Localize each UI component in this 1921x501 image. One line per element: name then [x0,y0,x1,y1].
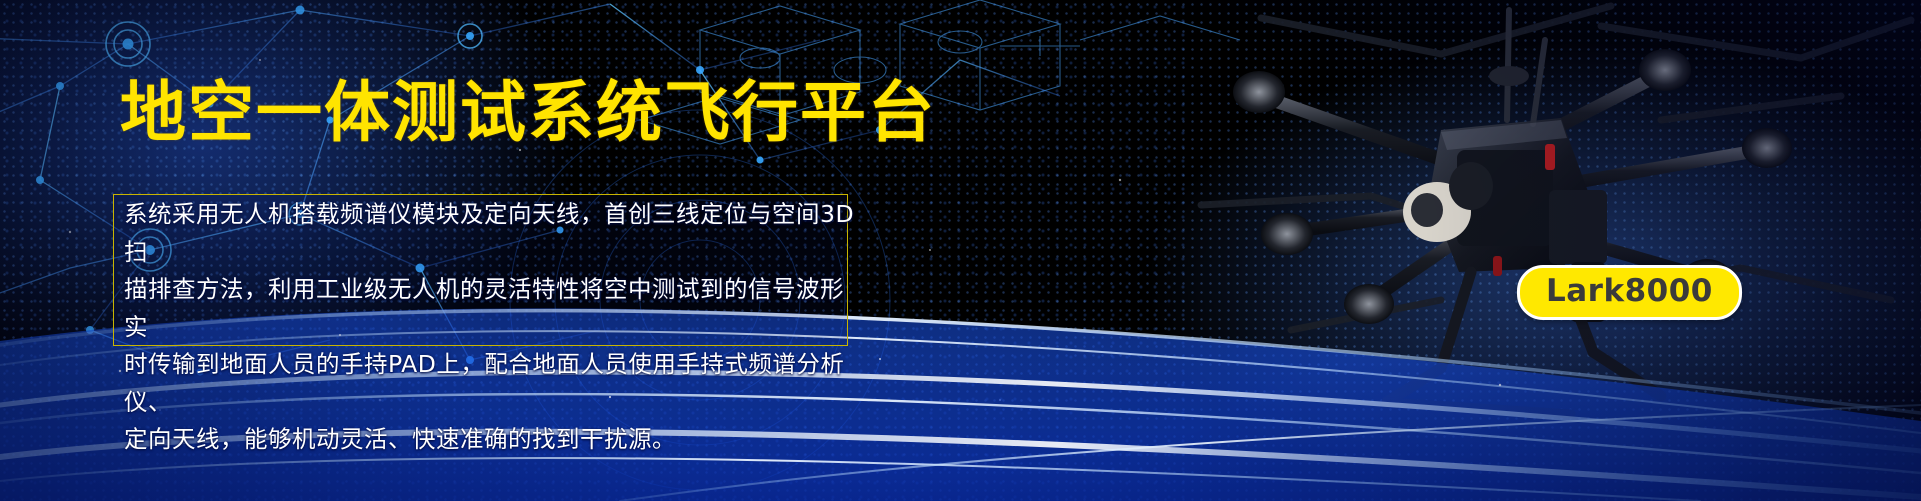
description-line-4: 定向天线，能够机动灵活、快速准确的找到干扰源。 [118,421,858,459]
description-text: 系统采用无人机搭载频谱仪模块及定向天线，首创三线定位与空间3D扫 描排查方法，利… [118,196,858,459]
product-model-badge: Lark8000 [1517,265,1742,320]
description-line-3: 时传输到地面人员的手持PAD上，配合地面人员使用手持式频谱分析仪、 [118,346,858,421]
page-title: 地空一体测试系统飞行平台 [120,80,936,146]
description-line-1: 系统采用无人机搭载频谱仪模块及定向天线，首创三线定位与空间3D扫 [118,196,858,271]
promo-banner: 地空一体测试系统飞行平台 系统采用无人机搭载频谱仪模块及定向天线，首创三线定位与… [0,0,1921,501]
description-line-2: 描排查方法，利用工业级无人机的灵活特性将空中测试到的信号波形实 [118,271,858,346]
